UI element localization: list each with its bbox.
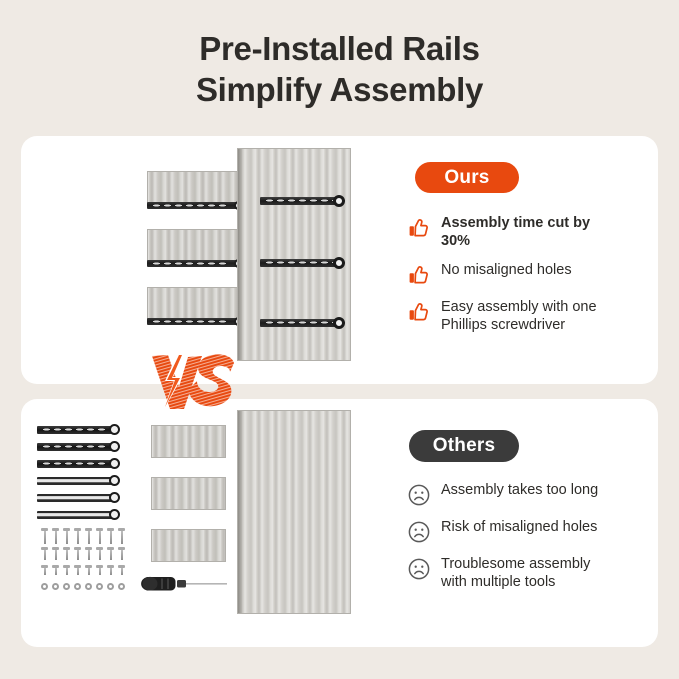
screw — [85, 528, 92, 544]
page-title-line-1: Pre-Installed Rails — [0, 28, 679, 69]
washer — [107, 583, 114, 590]
feature-item: Assembly takes too long — [407, 481, 601, 507]
feature-item: Assembly time cut by 30% — [407, 214, 601, 250]
page-title: Pre-Installed Rails Simplify Assembly — [0, 28, 679, 110]
screw — [63, 528, 70, 544]
screw — [52, 528, 59, 544]
feature-item: No misaligned holes — [407, 261, 601, 287]
mounted-rail — [260, 259, 340, 267]
screw — [96, 547, 103, 560]
screw — [107, 547, 114, 560]
drawer-front — [151, 425, 226, 458]
screw — [107, 528, 114, 544]
pre-attached-rail — [147, 202, 239, 209]
screw — [118, 528, 125, 544]
feature-text: Troublesome assembly with multiple tools — [441, 555, 601, 591]
feature-item: Troublesome assembly with multiple tools — [407, 555, 601, 591]
screw — [74, 565, 81, 575]
drawer-front — [151, 477, 226, 510]
rail-holes — [264, 261, 340, 264]
washer — [96, 583, 103, 590]
cabinet-side-panel — [237, 410, 351, 614]
badge-others-label: Others — [433, 435, 495, 457]
feature-text: Easy assembly with one Phillips screwdri… — [441, 298, 601, 334]
rail-holes — [151, 262, 227, 265]
screw — [85, 565, 92, 575]
feature-text: Assembly takes too long — [441, 481, 598, 499]
rail-holes — [41, 428, 117, 431]
rail-holes — [264, 199, 340, 202]
washer — [85, 583, 92, 590]
loose-rail — [37, 477, 117, 485]
sad-face-icon — [407, 483, 431, 507]
comparison-card-ours: Ours Assembly time cut by 30% No misalig… — [21, 136, 658, 384]
drawer-front — [147, 171, 239, 205]
washer — [41, 583, 48, 590]
pre-attached-rail — [147, 260, 239, 267]
screw — [96, 565, 103, 575]
mounted-rail — [260, 319, 340, 327]
feature-item: Easy assembly with one Phillips screwdri… — [407, 298, 601, 334]
feature-text: No misaligned holes — [441, 261, 572, 279]
badge-ours: Ours — [415, 162, 519, 193]
loose-rail — [37, 443, 117, 451]
badge-others: Others — [409, 430, 519, 462]
washer — [63, 583, 70, 590]
washer — [118, 583, 125, 590]
screw — [41, 547, 48, 560]
feature-list-others: Assembly takes too long Risk of misalign… — [407, 481, 601, 602]
mounted-rail — [260, 197, 340, 205]
sad-face-icon — [407, 520, 431, 544]
screw — [118, 565, 125, 575]
rail-holes — [41, 445, 117, 448]
loose-rail — [37, 426, 117, 434]
screw — [74, 528, 81, 544]
screwdriver-icon — [133, 571, 233, 597]
rail-holes — [151, 320, 227, 323]
screw — [63, 565, 70, 575]
rail-holes — [151, 204, 227, 207]
vs-lightning-icon — [148, 351, 240, 413]
feature-list-ours: Assembly time cut by 30% No misaligned h… — [407, 214, 601, 345]
sad-face-icon — [407, 557, 431, 581]
loose-rail — [37, 511, 117, 519]
rail-holes — [264, 321, 340, 324]
rail-holes — [41, 462, 117, 465]
page-title-line-2: Simplify Assembly — [0, 69, 679, 110]
cabinet-side-panel — [237, 148, 351, 361]
drawer-front — [147, 287, 239, 321]
screw — [118, 547, 125, 560]
screw — [96, 528, 103, 544]
screw — [52, 547, 59, 560]
thumbs-up-icon — [407, 300, 431, 324]
loose-rail — [37, 460, 117, 468]
screw — [74, 547, 81, 560]
drawer-front — [151, 529, 226, 562]
pre-attached-rail — [147, 318, 239, 325]
badge-ours-label: Ours — [444, 167, 489, 189]
thumbs-up-icon — [407, 263, 431, 287]
screw — [41, 565, 48, 575]
screw — [63, 547, 70, 560]
screw — [41, 528, 48, 544]
washer — [74, 583, 81, 590]
feature-item: Risk of misaligned holes — [407, 518, 601, 544]
washer — [52, 583, 59, 590]
cabinet-front-edge — [238, 411, 242, 613]
screw — [85, 547, 92, 560]
feature-text: Assembly time cut by 30% — [441, 214, 601, 250]
cabinet-front-edge — [238, 149, 242, 360]
thumbs-up-icon — [407, 216, 431, 240]
screw — [52, 565, 59, 575]
drawer-front — [147, 229, 239, 263]
screw — [107, 565, 114, 575]
comparison-card-others: Others Assembly takes too long — [21, 399, 658, 647]
loose-rail — [37, 494, 117, 502]
feature-text: Risk of misaligned holes — [441, 518, 597, 536]
